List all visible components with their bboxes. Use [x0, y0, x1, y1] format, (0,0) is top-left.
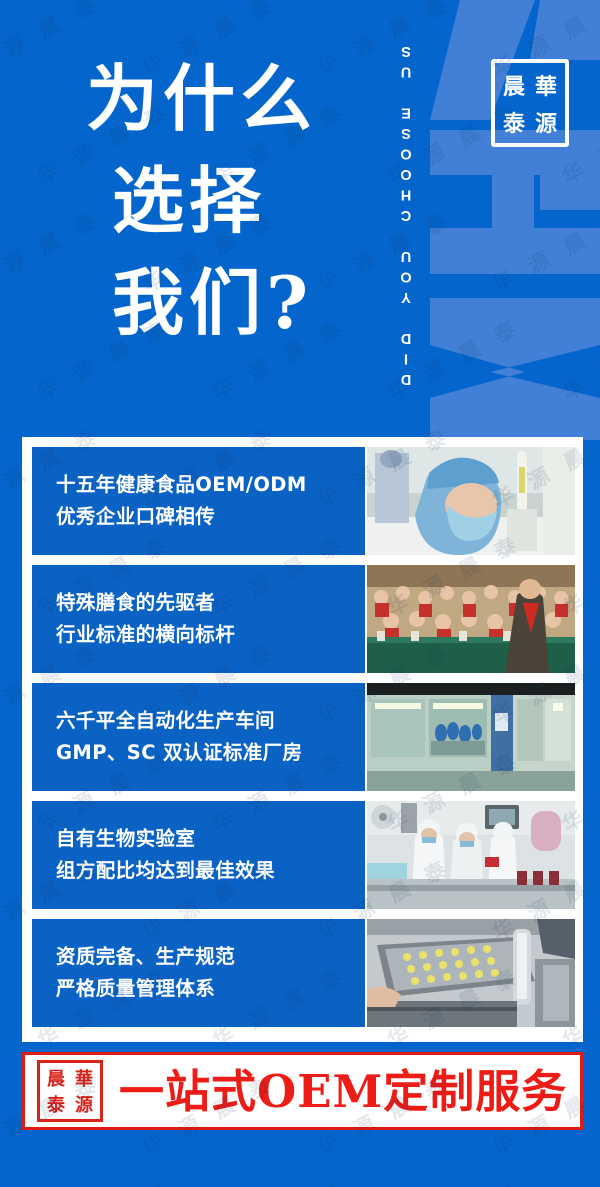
vertical-english-subtitle: DID YOU CHOOSE US	[398, 18, 424, 408]
feature-line-1: 十五年健康食品OEM/ODM	[56, 469, 365, 501]
header-section: 为什么 选择 我们? DID YOU CHOOSE US 晨 華 泰 源	[0, 0, 600, 436]
seal-char-bottom-right: 源	[530, 103, 562, 140]
feature-line-2: 优秀企业口碑相传	[56, 501, 365, 533]
feature-line-1: 六千平全自动化生产车间	[56, 705, 365, 737]
feature-text-card: 特殊膳食的先驱者 行业标准的横向标杆	[32, 565, 365, 673]
feature-line-2: 行业标准的横向标杆	[56, 619, 365, 651]
watermark-text: 华 源 晨 泰	[0, 743, 1, 839]
feature-row: 特殊膳食的先驱者 行业标准的横向标杆	[32, 565, 575, 673]
watermark-text: 华 源 晨 泰	[207, 1175, 352, 1187]
bottom-cta-banner: 晨 華 泰 源 一站式OEM定制服务	[22, 1052, 583, 1130]
feature-row: 六千平全自动化生产车间 GMP、SC 双认证标准厂房	[32, 683, 575, 791]
seal-border: 晨 華 泰 源	[491, 59, 569, 147]
headline-line-1: 为什么	[86, 48, 386, 150]
feature-line-1: 资质完备、生产规范	[56, 941, 365, 973]
feature-photo-gummy-machine	[367, 919, 575, 1027]
headline-line-2: 选择	[112, 150, 386, 252]
features-list: 十五年健康食品OEM/ODM 优秀企业口碑相传	[32, 447, 575, 1027]
feature-photo-conference	[367, 565, 575, 673]
feature-line-2: 严格质量管理体系	[56, 973, 365, 1005]
features-frame: 十五年健康食品OEM/ODM 优秀企业口碑相传	[22, 437, 583, 1042]
watermark-text: 华 源 晨 泰	[0, 959, 1, 1055]
feature-text-card: 十五年健康食品OEM/ODM 优秀企业口碑相传	[32, 447, 365, 555]
seal-char-bottom-left: 泰	[42, 1091, 70, 1117]
seal-char-top-right: 華	[530, 66, 562, 103]
feature-row: 十五年健康食品OEM/ODM 优秀企业口碑相传	[32, 447, 575, 555]
company-seal-red: 晨 華 泰 源	[37, 1060, 103, 1122]
seal-char-top-left: 晨	[42, 1065, 70, 1091]
seal-char-bottom-right: 源	[70, 1091, 98, 1117]
feature-line-2: GMP、SC 双认证标准厂房	[56, 737, 365, 769]
seal-char-top-left: 晨	[498, 66, 530, 103]
watermark-text: 华 源 晨 泰	[0, 527, 1, 623]
headline-line-3: 我们?	[112, 252, 386, 354]
company-seal-logo: 晨 華 泰 源	[487, 55, 573, 151]
seal-char-top-right: 華	[70, 1065, 98, 1091]
feature-line-1: 自有生物实验室	[56, 823, 365, 855]
feature-photo-cleanroom	[367, 683, 575, 791]
watermark-text: 华 源 晨 泰	[382, 1175, 527, 1187]
feature-text-card: 六千平全自动化生产车间 GMP、SC 双认证标准厂房	[32, 683, 365, 791]
cta-text: 一站式OEM定制服务	[119, 1069, 567, 1114]
feature-text-card: 自有生物实验室 组方配比均达到最佳效果	[32, 801, 365, 909]
watermark-text: 华 源 晨 泰	[0, 1175, 1, 1187]
watermark-text: 华 源 晨 泰	[32, 1175, 177, 1187]
feature-photo-lab-technician	[367, 447, 575, 555]
feature-line-1: 特殊膳食的先驱者	[56, 587, 365, 619]
feature-line-2: 组方配比均达到最佳效果	[56, 855, 365, 887]
page-title: 为什么 选择 我们?	[86, 48, 386, 355]
watermark-text: 华 源 晨 泰	[557, 1175, 600, 1187]
seal-char-bottom-left: 泰	[498, 103, 530, 140]
feature-photo-production-line	[367, 801, 575, 909]
poster-root: 为什么 选择 我们? DID YOU CHOOSE US 晨 華 泰 源 十五年…	[0, 0, 600, 1187]
feature-row: 自有生物实验室 组方配比均达到最佳效果	[32, 801, 575, 909]
feature-text-card: 资质完备、生产规范 严格质量管理体系	[32, 919, 365, 1027]
feature-row: 资质完备、生产规范 严格质量管理体系	[32, 919, 575, 1027]
